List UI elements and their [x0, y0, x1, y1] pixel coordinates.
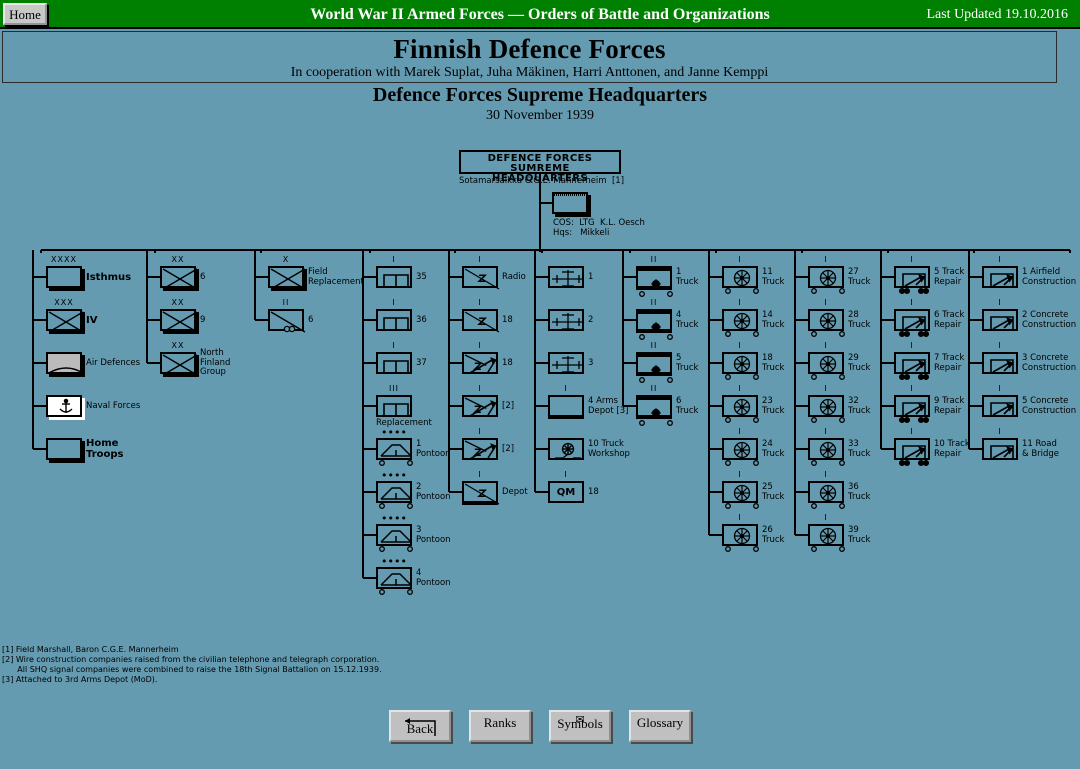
symbol-rail-transport	[548, 352, 584, 374]
unit-col-divisions-2[interactable]: XXNorth Finland Group	[160, 352, 196, 374]
unit-label: North Finland Group	[200, 349, 230, 378]
echelon-marker: I	[548, 385, 584, 393]
symbol-pontoon	[376, 438, 412, 460]
symbol-signal-depot	[462, 481, 498, 503]
unit-col-track-repair-1[interactable]: I6 Track Repair	[894, 309, 930, 331]
unit-col-construction-2[interactable]: I3 Concrete Construction	[982, 352, 1018, 374]
unit-col-engineers-0[interactable]: I35	[376, 266, 412, 288]
unit-col-commands-4[interactable]: Home Troops	[46, 438, 82, 460]
echelon-marker: I	[722, 428, 758, 436]
symbol-construction-motor	[894, 395, 930, 417]
unit-label: 5 Concrete Construction	[1022, 397, 1076, 416]
unit-col-construction-1[interactable]: I2 Concrete Construction	[982, 309, 1018, 331]
unit-col-truck-c-1[interactable]: I28 Truck	[808, 309, 844, 331]
unit-label: 18 Truck	[762, 354, 784, 373]
unit-col-commands-0[interactable]: XXXXIsthmus	[46, 266, 82, 288]
unit-col-truck-a-2[interactable]: II5 Truck	[636, 352, 672, 374]
unit-label: 5 Truck	[676, 354, 698, 373]
unit-label: 25 Truck	[762, 483, 784, 502]
unit-label: 27 Truck	[848, 268, 870, 287]
unit-label: 39 Truck	[848, 526, 870, 545]
symbol-signal-construction	[462, 438, 498, 460]
symbol-hq-plain	[46, 266, 82, 288]
unit-col-truck-c-3[interactable]: I32 Truck	[808, 395, 844, 417]
echelon-marker: I	[808, 256, 844, 264]
unit-col-engineers-3[interactable]: IIIReplacement	[376, 395, 412, 417]
symbol-infantry	[160, 309, 196, 331]
unit-label: Isthmus	[86, 272, 131, 283]
echelon-marker: I	[982, 385, 1018, 393]
symbol-construction-motor	[894, 266, 930, 288]
echelon-marker: I	[462, 256, 498, 264]
unit-col-track-repair-2[interactable]: I7 Track Repair	[894, 352, 930, 374]
echelon-marker: XX	[160, 299, 196, 307]
unit-label: 1 Airfield Construction	[1022, 268, 1076, 287]
unit-label: 29 Truck	[848, 354, 870, 373]
back-button[interactable]: Back	[389, 710, 451, 742]
echelon-marker: I	[462, 428, 498, 436]
unit-col-construction-3[interactable]: I5 Concrete Construction	[982, 395, 1018, 417]
symbol-construction	[982, 438, 1018, 460]
echelon-marker: I	[462, 299, 498, 307]
symbol-truck-wheel	[722, 481, 758, 503]
symbol-pontoon	[376, 481, 412, 503]
unit-label: 11 Truck	[762, 268, 784, 287]
symbol-truck-wheel	[722, 266, 758, 288]
unit-label: 28 Truck	[848, 311, 870, 330]
unit-label: 6 Truck	[676, 397, 698, 416]
symbol-truck-wheel	[722, 395, 758, 417]
echelon-marker: ••••	[376, 515, 412, 523]
symbol-signal	[462, 309, 498, 331]
echelon-marker: II	[636, 299, 672, 307]
unit-col-divisions-0[interactable]: XX6	[160, 266, 196, 288]
unit-label: 26 Truck	[762, 526, 784, 545]
echelon-marker: I	[808, 428, 844, 436]
unit-label: 4 Pontoon	[416, 569, 451, 588]
symbols-button-label: Symbols	[551, 716, 609, 732]
unit-label: 5 Track Repair	[934, 268, 964, 287]
unit-label: 3	[588, 359, 593, 369]
symbol-truck-wheel	[722, 352, 758, 374]
unit-col-truck-c-4[interactable]: I33 Truck	[808, 438, 844, 460]
symbol-infantry	[160, 352, 196, 374]
unit-col-supply-1[interactable]: 2	[548, 309, 584, 331]
symbol-infantry	[268, 266, 304, 288]
unit-label: 2	[588, 316, 593, 326]
unit-col-supply-2[interactable]: 3	[548, 352, 584, 374]
unit-label: 33 Truck	[848, 440, 870, 459]
unit-col-truck-b-0[interactable]: I11 Truck	[722, 266, 758, 288]
unit-col-signals-4[interactable]: I[2]	[462, 438, 498, 460]
unit-col-engineers-7[interactable]: ••••4 Pontoon	[376, 567, 412, 589]
symbol-rail-transport	[548, 266, 584, 288]
unit-col-signals-2[interactable]: I18	[462, 352, 498, 374]
symbol-infantry	[160, 266, 196, 288]
unit-col-engineers-2[interactable]: I37	[376, 352, 412, 374]
unit-col-truck-a-1[interactable]: II4 Truck	[636, 309, 672, 331]
bottom-button-row: Back Ranks ✉ Symbols Glossary	[0, 710, 1080, 742]
symbol-construction	[982, 395, 1018, 417]
symbol-truck-wheel	[808, 524, 844, 546]
unit-col-supply-0[interactable]: 1	[548, 266, 584, 288]
echelon-marker: XXX	[46, 299, 82, 307]
unit-label: 2 Pontoon	[416, 483, 451, 502]
unit-label: 32 Truck	[848, 397, 870, 416]
unit-label: 1 Pontoon	[416, 440, 451, 459]
echelon-marker: XX	[160, 342, 196, 350]
unit-col-signals-1[interactable]: I18	[462, 309, 498, 331]
unit-col-truck-c-5[interactable]: I36 Truck	[808, 481, 844, 503]
symbol-truck-supply	[636, 352, 672, 374]
echelon-marker: X	[268, 256, 304, 264]
unit-label: 1 Truck	[676, 268, 698, 287]
back-button-label: Back	[391, 721, 449, 737]
unit-label: 7 Track Repair	[934, 354, 964, 373]
echelon-marker: I	[894, 385, 930, 393]
unit-label: 23 Truck	[762, 397, 784, 416]
echelon-marker: I	[722, 256, 758, 264]
symbol-workshop	[548, 438, 584, 460]
unit-col-truck-a-3[interactable]: II6 Truck	[636, 395, 672, 417]
symbol-construction	[982, 309, 1018, 331]
unit-label: 3 Concrete Construction	[1022, 354, 1076, 373]
unit-label: Air Defences	[86, 359, 140, 369]
echelon-marker: I	[894, 342, 930, 350]
echelon-marker: I	[722, 514, 758, 522]
unit-col-truck-b-4[interactable]: I24 Truck	[722, 438, 758, 460]
echelon-marker: I	[808, 471, 844, 479]
unit-label: 6 Track Repair	[934, 311, 964, 330]
unit-label: 36	[416, 316, 427, 326]
echelon-marker: I	[376, 256, 412, 264]
unit-col-track-repair-3[interactable]: I9 Track Repair	[894, 395, 930, 417]
symbol-truck-wheel	[808, 438, 844, 460]
unit-label: 11 Road & Bridge	[1022, 440, 1059, 459]
echelon-marker: I	[722, 299, 758, 307]
unit-col-track-repair-0[interactable]: I5 Track Repair	[894, 266, 930, 288]
unit-label: 3 Pontoon	[416, 526, 451, 545]
echelon-marker: ••••	[376, 472, 412, 480]
unit-col-truck-b-2[interactable]: I18 Truck	[722, 352, 758, 374]
symbol-engineer	[376, 352, 412, 374]
unit-label: [2]	[502, 445, 514, 455]
echelon-marker: I	[982, 256, 1018, 264]
symbol-construction-motor	[894, 309, 930, 331]
unit-col-construction-4[interactable]: I11 Road & Bridge	[982, 438, 1018, 460]
unit-col-commands-2[interactable]: Air Defences	[46, 352, 82, 374]
unit-label: 9	[200, 316, 205, 326]
unit-col-supply-5[interactable]: IQM18	[548, 481, 584, 503]
unit-col-signals-5[interactable]: IDepot	[462, 481, 498, 503]
unit-label: [2]	[502, 402, 514, 412]
unit-col-truck-c-6[interactable]: I39 Truck	[808, 524, 844, 546]
unit-label: Radio	[502, 273, 526, 283]
symbol-truck-supply	[636, 309, 672, 331]
echelon-marker: I	[376, 299, 412, 307]
symbol-qm: QM	[548, 481, 584, 503]
symbol-cavalry-motor	[268, 309, 304, 331]
echelon-marker: I	[722, 342, 758, 350]
symbol-infantry	[46, 309, 82, 331]
symbol-truck-supply	[636, 266, 672, 288]
symbol-signal	[462, 266, 498, 288]
unit-col-engineers-5[interactable]: ••••2 Pontoon	[376, 481, 412, 503]
unit-col-divisions-1[interactable]: XX9	[160, 309, 196, 331]
symbol-pontoon	[376, 567, 412, 589]
unit-col-commands-1[interactable]: XXXIV	[46, 309, 82, 331]
unit-label: 9 Track Repair	[934, 397, 964, 416]
unit-col-supply-4[interactable]: 10 Truck Workshop	[548, 438, 584, 460]
unit-col-signals-3[interactable]: I[2]	[462, 395, 498, 417]
symbol-signal-construction	[462, 352, 498, 374]
symbol-construction-motor	[894, 438, 930, 460]
symbol-truck-wheel	[808, 395, 844, 417]
ranks-button[interactable]: Ranks	[469, 710, 531, 742]
unit-col-truck-b-3[interactable]: I23 Truck	[722, 395, 758, 417]
unit-col-construction-0[interactable]: I1 Airfield Construction	[982, 266, 1018, 288]
unit-label: Home Troops	[86, 438, 124, 460]
symbol-depot	[548, 395, 584, 417]
echelon-marker: I	[982, 342, 1018, 350]
unit-label: 1	[588, 273, 593, 283]
echelon-marker: ••••	[376, 429, 412, 437]
echelon-marker: II	[636, 385, 672, 393]
unit-col-truck-c-2[interactable]: I29 Truck	[808, 352, 844, 374]
echelon-marker: II	[636, 256, 672, 264]
unit-col-truck-b-5[interactable]: I25 Truck	[722, 481, 758, 503]
symbol-construction	[982, 266, 1018, 288]
symbol-rail-transport	[548, 309, 584, 331]
symbol-engineer	[376, 309, 412, 331]
symbol-truck-wheel	[722, 438, 758, 460]
echelon-marker: I	[462, 342, 498, 350]
symbol-truck-wheel	[722, 524, 758, 546]
echelon-marker: XX	[160, 256, 196, 264]
unit-col-engineers-6[interactable]: ••••3 Pontoon	[376, 524, 412, 546]
symbol-air-defence	[46, 352, 82, 374]
unit-col-replacement-0[interactable]: XField Replacement	[268, 266, 304, 288]
echelon-marker: XXXX	[46, 256, 82, 264]
symbol-truck-wheel	[808, 309, 844, 331]
unit-label: Naval Forces	[86, 402, 140, 412]
unit-label: 36 Truck	[848, 483, 870, 502]
echelon-marker: I	[982, 428, 1018, 436]
symbol-truck-wheel	[722, 309, 758, 331]
unit-col-truck-c-0[interactable]: I27 Truck	[808, 266, 844, 288]
echelon-marker: I	[462, 471, 498, 479]
echelon-marker: I	[894, 299, 930, 307]
unit-col-track-repair-4[interactable]: I10 Track Repair	[894, 438, 930, 460]
symbols-button[interactable]: ✉ Symbols	[549, 710, 611, 742]
symbol-truck-supply	[636, 395, 672, 417]
unit-col-commands-3[interactable]: Naval Forces	[46, 395, 82, 417]
unit-label: 2 Concrete Construction	[1022, 311, 1076, 330]
symbol-hq-plain	[46, 438, 82, 460]
symbol-construction	[982, 352, 1018, 374]
symbol-truck-wheel	[808, 352, 844, 374]
unit-label: 18	[588, 488, 599, 498]
footnotes: [1] Field Marshall, Baron C.G.E. Mannerh…	[2, 645, 522, 685]
unit-label: 4 Arms Depot [3]	[588, 397, 628, 416]
symbol-signal-construction	[462, 395, 498, 417]
echelon-marker: I	[722, 385, 758, 393]
echelon-marker: I	[808, 299, 844, 307]
unit-label: 10 Track Repair	[934, 440, 970, 459]
glossary-button[interactable]: Glossary	[629, 710, 691, 742]
echelon-marker: I	[808, 342, 844, 350]
ranks-button-label: Ranks	[471, 715, 529, 731]
echelon-marker: I	[462, 385, 498, 393]
unit-label: Field Replacement	[308, 268, 364, 287]
echelon-marker: I	[808, 385, 844, 393]
unit-col-truck-b-1[interactable]: I14 Truck	[722, 309, 758, 331]
echelon-marker: I	[376, 342, 412, 350]
unit-label: 4 Truck	[676, 311, 698, 330]
unit-label: 6	[200, 273, 205, 283]
unit-col-replacement-1[interactable]: II6	[268, 309, 304, 331]
unit-col-supply-3[interactable]: I4 Arms Depot [3]	[548, 395, 584, 417]
echelon-marker: I	[808, 514, 844, 522]
unit-label: Depot	[502, 488, 528, 498]
echelon-marker: II	[268, 299, 304, 307]
echelon-marker: ••••	[376, 558, 412, 566]
symbol-inner-text: QM	[550, 487, 582, 498]
echelon-marker: III	[376, 385, 412, 393]
symbol-truck-wheel	[808, 266, 844, 288]
unit-label: 6	[308, 316, 313, 326]
unit-col-engineers-4[interactable]: ••••1 Pontoon	[376, 438, 412, 460]
symbol-naval	[46, 395, 82, 417]
unit-label: IV	[86, 315, 97, 326]
symbol-pontoon	[376, 524, 412, 546]
unit-col-engineers-1[interactable]: I36	[376, 309, 412, 331]
unit-col-signals-0[interactable]: IRadio	[462, 266, 498, 288]
unit-label: 10 Truck Workshop	[588, 440, 630, 459]
symbol-construction-motor	[894, 352, 930, 374]
unit-label: 18	[502, 359, 513, 369]
unit-label: 14 Truck	[762, 311, 784, 330]
unit-col-truck-b-6[interactable]: I26 Truck	[722, 524, 758, 546]
unit-label: 35	[416, 273, 427, 283]
echelon-marker: I	[894, 256, 930, 264]
symbol-truck-wheel	[808, 481, 844, 503]
echelon-marker: I	[548, 471, 584, 479]
symbol-engineer	[376, 395, 412, 417]
echelon-marker: I	[982, 299, 1018, 307]
echelon-marker: II	[636, 342, 672, 350]
unit-label: 24 Truck	[762, 440, 784, 459]
glossary-button-label: Glossary	[631, 715, 689, 731]
unit-label: 37	[416, 359, 427, 369]
unit-label: 18	[502, 316, 513, 326]
echelon-marker: I	[894, 428, 930, 436]
symbol-engineer	[376, 266, 412, 288]
unit-col-truck-a-0[interactable]: II1 Truck	[636, 266, 672, 288]
echelon-marker: I	[722, 471, 758, 479]
